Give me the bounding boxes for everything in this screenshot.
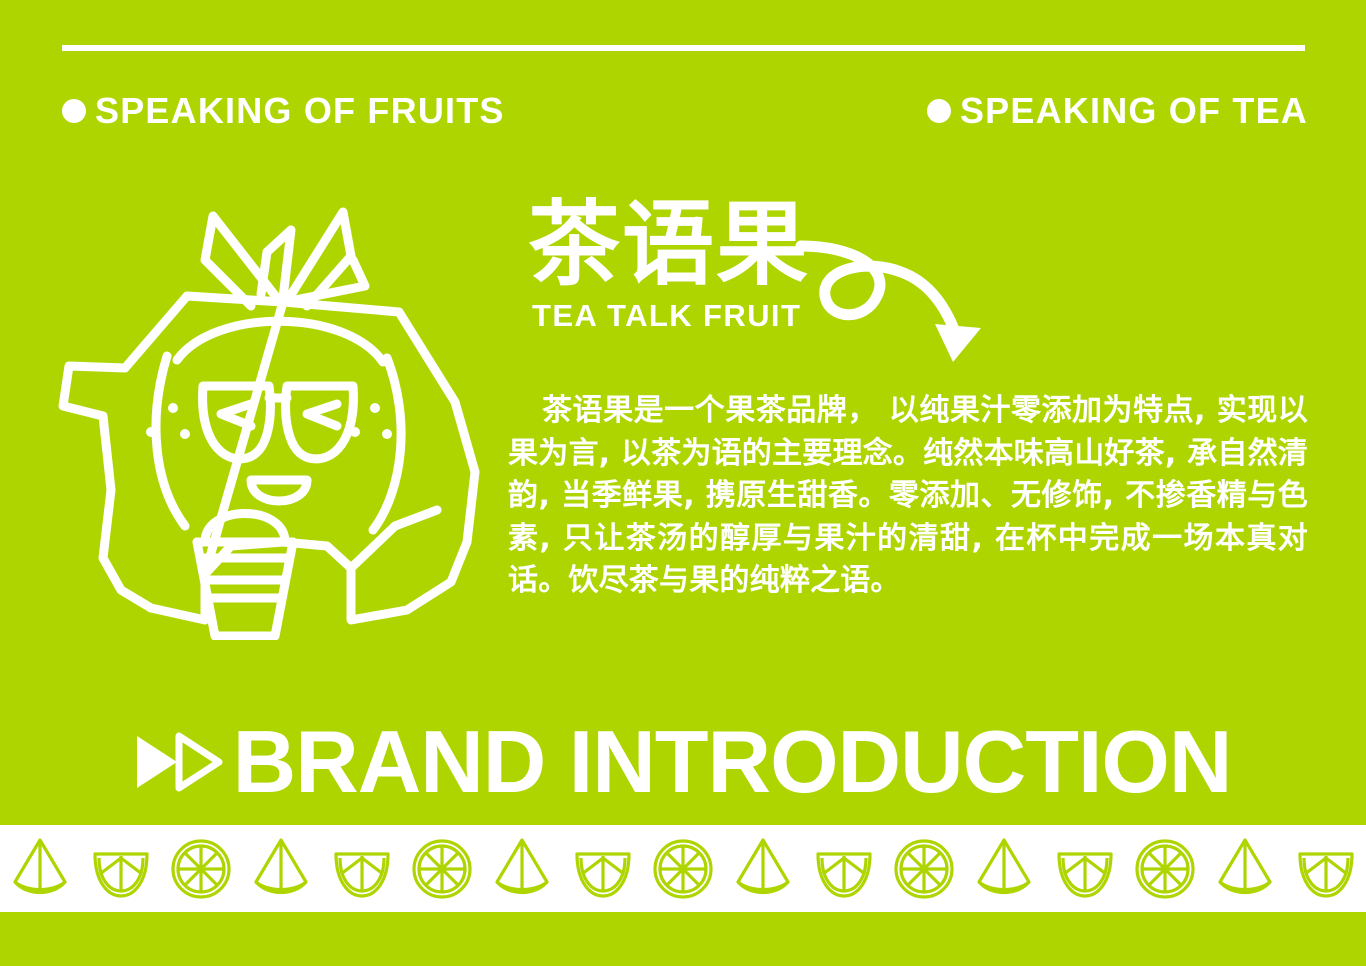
brand-name-cn: 茶语果	[528, 196, 1028, 294]
eyebrow-speaking-of-tea: SPEAKING OF TEA	[927, 93, 1308, 129]
fruit-mascot-icon	[55, 190, 505, 640]
citrus-half-icon	[813, 834, 875, 904]
eyebrow-right-label: SPEAKING OF TEA	[960, 93, 1308, 129]
citrus-wedge-icon	[1214, 834, 1276, 904]
headline-text: BRAND INTRODUCTION	[233, 718, 1232, 806]
citrus-half-icon	[1295, 834, 1357, 904]
citrus-wedge-icon	[973, 834, 1035, 904]
citrus-half-icon	[1054, 834, 1116, 904]
horizontal-rule	[62, 45, 1305, 51]
citrus-wedge-icon	[9, 834, 71, 904]
headline-row: BRAND INTRODUCTION	[0, 718, 1366, 806]
brand-description: 茶语果是一个果茶品牌， 以纯果汁零添加为特点, 实现以果为言, 以茶为语的主要理…	[508, 390, 1308, 603]
citrus-half-icon	[331, 834, 393, 904]
citrus-round-icon	[652, 834, 714, 904]
citrus-round-icon	[1134, 834, 1196, 904]
brand-lockup: 茶语果 TEA TALK FRUIT	[528, 196, 1028, 331]
citrus-half-icon	[572, 834, 634, 904]
citrus-wedge-icon	[250, 834, 312, 904]
poster-canvas: SPEAKING OF FRUITS SPEAKING OF TEA	[0, 0, 1366, 966]
bottom-green-band	[0, 912, 1366, 966]
eyebrow-left-label: SPEAKING OF FRUITS	[95, 93, 505, 129]
citrus-round-icon	[170, 834, 232, 904]
citrus-round-icon	[411, 834, 473, 904]
dot-icon	[62, 99, 86, 123]
eyebrow-speaking-of-fruits: SPEAKING OF FRUITS	[62, 93, 505, 129]
fruit-pattern-strip	[0, 825, 1366, 912]
citrus-wedge-icon	[491, 834, 553, 904]
citrus-half-icon	[90, 834, 152, 904]
citrus-wedge-icon	[732, 834, 794, 904]
citrus-round-icon	[893, 834, 955, 904]
dot-icon	[927, 99, 951, 123]
brand-name-en: TEA TALK FRUIT	[532, 300, 1028, 331]
double-chevron-icon	[135, 732, 223, 792]
